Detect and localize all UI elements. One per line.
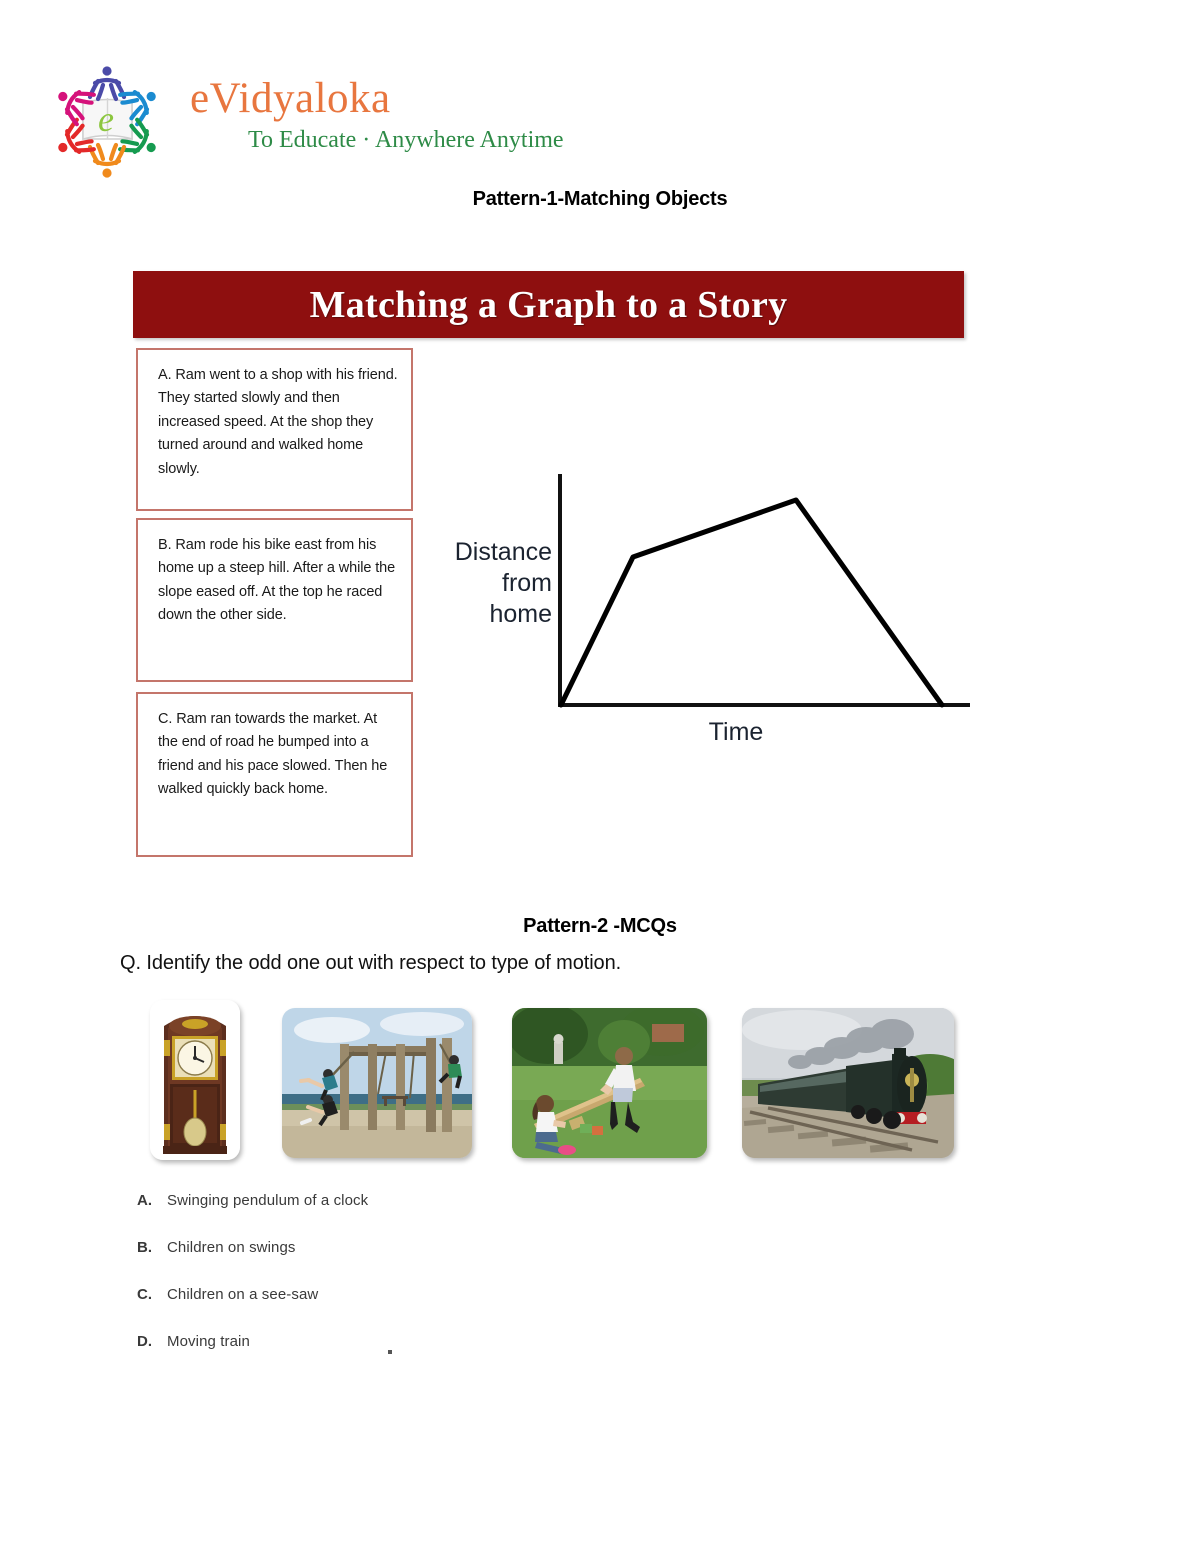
graph-ylabel-line-2: from xyxy=(502,569,552,597)
evidyaloka-logo-icon: e xyxy=(40,55,175,190)
mcq-option-b[interactable]: B. Children on swings xyxy=(137,1239,737,1286)
graph-xlabel: Time xyxy=(709,718,764,746)
mcq-option-d[interactable]: D. Moving train xyxy=(137,1333,737,1380)
mcq-option-c-letter: C. xyxy=(137,1286,167,1303)
mcq-option-c-text: Children on a see-saw xyxy=(167,1286,318,1303)
graph-data-line xyxy=(561,500,942,705)
distance-time-graph: Distance from home Time xyxy=(440,460,1000,760)
brand-tagline: To Educate · Anywhere Anytime xyxy=(248,128,650,152)
mcq-option-a[interactable]: A. Swinging pendulum of a clock xyxy=(137,1192,737,1239)
children-on-seesaw-image xyxy=(512,1008,707,1158)
mcq-option-d-text: Moving train xyxy=(167,1333,250,1350)
brand-name: eVidyaloka xyxy=(190,77,650,120)
pattern-2-title: Pattern-2 -MCQs xyxy=(0,915,1200,938)
mcq-option-d-letter: D. xyxy=(137,1333,167,1350)
graph-ylabel-line-3: home xyxy=(489,600,552,628)
mcq-option-c[interactable]: C. Children on a see-saw xyxy=(137,1286,737,1333)
mcq-options-list: A. Swinging pendulum of a clock B. Child… xyxy=(137,1192,737,1380)
mcq-option-a-text: Swinging pendulum of a clock xyxy=(167,1192,368,1209)
brand-block: eVidyaloka To Educate · Anywhere Anytime xyxy=(190,77,650,152)
matching-graph-banner: Matching a Graph to a Story xyxy=(133,271,964,338)
story-box-a: A. Ram went to a shop with his friend. T… xyxy=(136,348,413,511)
story-c-text: C. Ram ran towards the market. At the en… xyxy=(158,708,399,802)
mcq-option-b-letter: B. xyxy=(137,1239,167,1256)
mcq-question: Q. Identify the odd one out with respect… xyxy=(120,952,621,975)
children-on-swings-image xyxy=(282,1008,472,1158)
svg-text:e: e xyxy=(98,99,114,139)
banner-title: Matching a Graph to a Story xyxy=(310,283,788,327)
worksheet-page: e xyxy=(0,0,1200,1553)
story-a-text: A. Ram went to a shop with his friend. T… xyxy=(158,364,399,481)
stray-period-mark xyxy=(388,1350,392,1354)
mcq-option-b-text: Children on swings xyxy=(167,1239,296,1256)
pendulum-clock-image xyxy=(150,1000,240,1160)
steam-train-image xyxy=(742,1008,954,1158)
mcq-option-a-letter: A. xyxy=(137,1192,167,1209)
story-box-c: C. Ram ran towards the market. At the en… xyxy=(136,692,413,857)
mcq-image-row xyxy=(150,1000,970,1160)
story-box-b: B. Ram rode his bike east from his home … xyxy=(136,518,413,682)
pattern-1-title: Pattern-1-Matching Objects xyxy=(0,188,1200,211)
page-header: e xyxy=(40,55,660,190)
graph-ylabel-line-1: Distance xyxy=(455,538,552,566)
story-b-text: B. Ram rode his bike east from his home … xyxy=(158,534,399,628)
